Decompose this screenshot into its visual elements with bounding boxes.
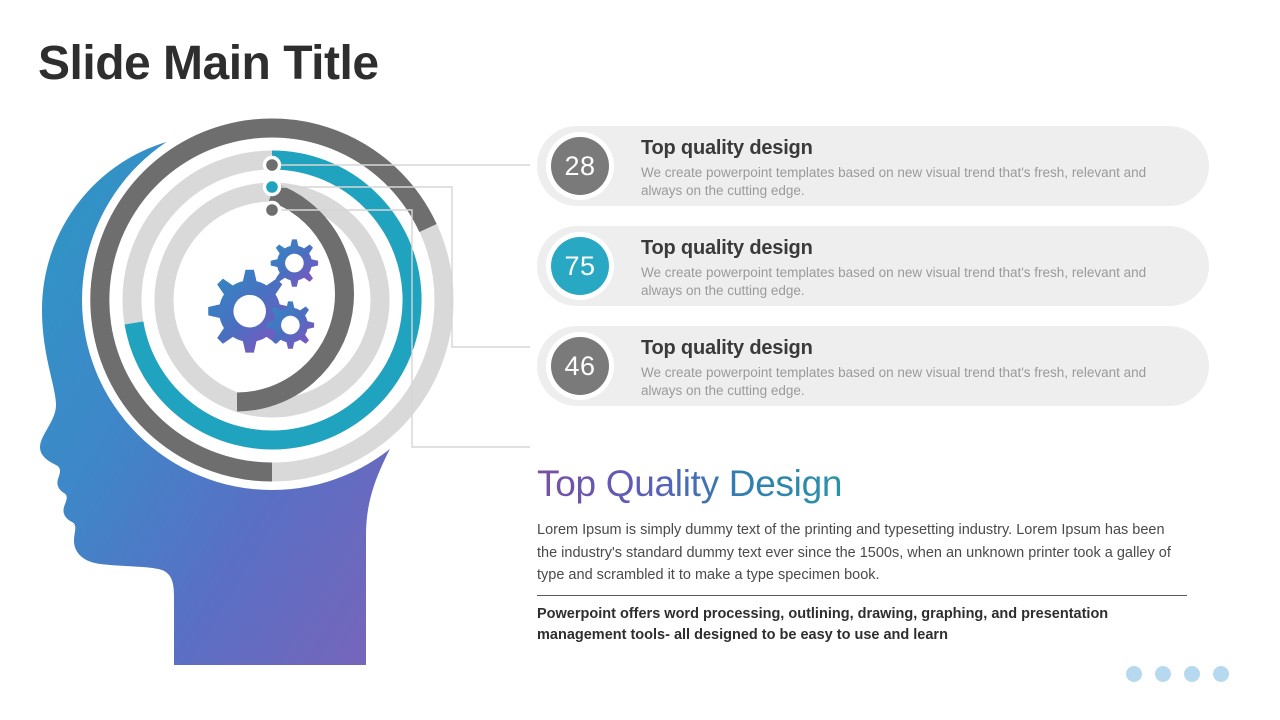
connector-dot-2 bbox=[265, 180, 280, 195]
status-badge: 75 bbox=[551, 237, 609, 295]
page-dot-1[interactable] bbox=[1126, 666, 1142, 682]
section-heading: Top Quality Design bbox=[537, 462, 842, 506]
connector-dots bbox=[265, 158, 280, 218]
card-body: Top quality design We create powerpoint … bbox=[641, 236, 1169, 301]
card-description: We create powerpoint templates based on … bbox=[641, 164, 1151, 201]
badge-ring: 75 bbox=[546, 232, 614, 300]
page-title: Slide Main Title bbox=[38, 38, 379, 91]
section-paragraph: Lorem Ipsum is simply dummy text of the … bbox=[537, 519, 1187, 586]
head-profile-infographic bbox=[0, 105, 530, 685]
status-badge: 46 bbox=[551, 337, 609, 395]
lower-text-block: Top Quality Design Lorem Ipsum is simply… bbox=[537, 462, 1197, 646]
connector-dot-3 bbox=[265, 203, 280, 218]
card-title: Top quality design bbox=[641, 136, 1169, 161]
pagination[interactable] bbox=[1126, 666, 1229, 682]
status-badge: 28 bbox=[551, 137, 609, 195]
card-title: Top quality design bbox=[641, 336, 1169, 361]
feature-card[interactable]: 28 Top quality design We create powerpoi… bbox=[537, 126, 1209, 206]
badge-ring: 46 bbox=[546, 332, 614, 400]
card-description: We create powerpoint templates based on … bbox=[641, 264, 1151, 301]
page-dot-3[interactable] bbox=[1184, 666, 1200, 682]
badge-ring: 28 bbox=[546, 132, 614, 200]
feature-card[interactable]: 75 Top quality design We create powerpoi… bbox=[537, 226, 1209, 306]
page-dot-4[interactable] bbox=[1213, 666, 1229, 682]
card-description: We create powerpoint templates based on … bbox=[641, 364, 1151, 401]
page-dot-2[interactable] bbox=[1155, 666, 1171, 682]
divider bbox=[537, 595, 1187, 596]
card-body: Top quality design We create powerpoint … bbox=[641, 136, 1169, 201]
card-body: Top quality design We create powerpoint … bbox=[641, 336, 1169, 401]
card-title: Top quality design bbox=[641, 236, 1169, 261]
feature-card[interactable]: 46 Top quality design We create powerpoi… bbox=[537, 326, 1209, 406]
connector-dot-1 bbox=[265, 158, 280, 173]
section-highlight-text: Powerpoint offers word processing, outli… bbox=[537, 604, 1187, 646]
